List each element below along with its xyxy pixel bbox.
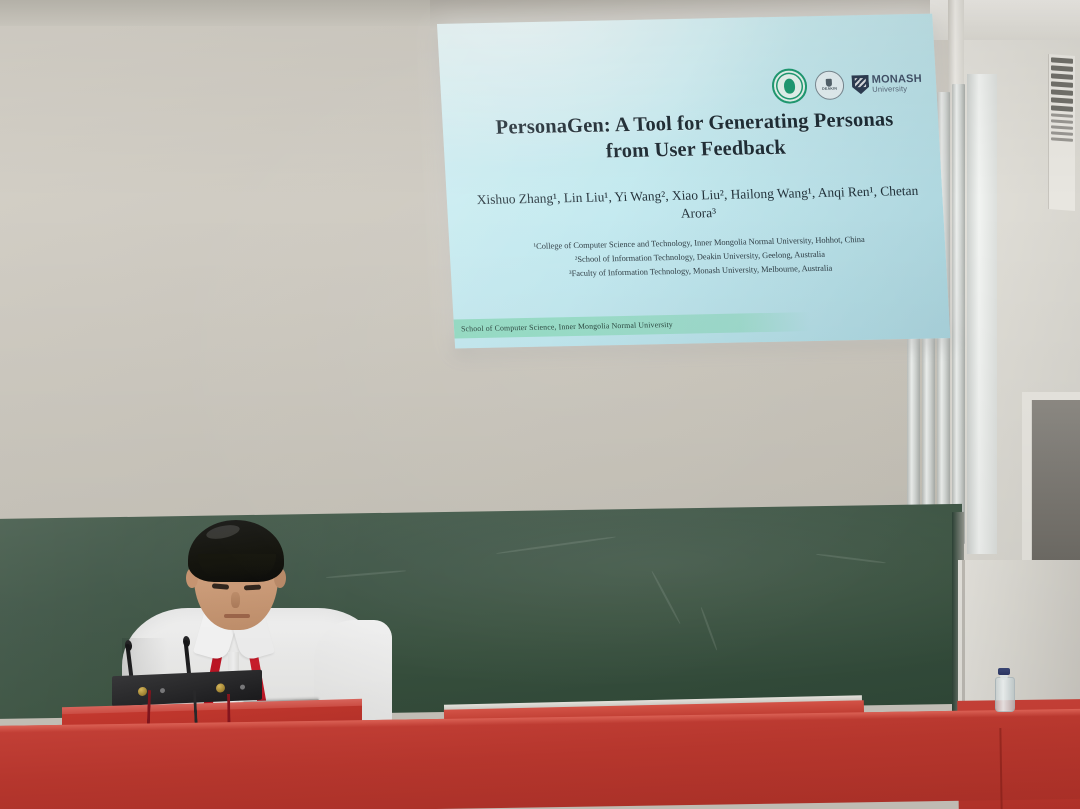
presenter-eye: [244, 585, 261, 591]
deakin-crest-icon: [826, 79, 832, 87]
wall-slat: [952, 84, 965, 544]
monash-logo-icon: MONASH University: [851, 74, 922, 94]
chalk-mark: [700, 607, 718, 651]
slide-authors: Xishuo Zhang¹, Lin Liu¹, Yi Wang², Xiao …: [468, 182, 927, 228]
chalk-mark: [496, 536, 615, 554]
presenter-nose: [231, 592, 240, 608]
water-bottle[interactable]: [995, 668, 1013, 710]
mic-knob[interactable]: [138, 687, 147, 696]
bottle-body: [995, 677, 1015, 712]
chalk-mark: [816, 553, 886, 564]
mic-indicator: [240, 684, 245, 689]
chalk-mark: [651, 571, 681, 625]
monash-logo-line2: University: [872, 85, 923, 94]
projection-screen: DEAKIN MONASH University PersonaGen: A T…: [437, 14, 950, 349]
slide-surface: DEAKIN MONASH University PersonaGen: A T…: [437, 14, 950, 349]
screen-vignette: [437, 14, 950, 349]
presentation-photo: DEAKIN MONASH University PersonaGen: A T…: [0, 0, 1080, 809]
side-ledge: [958, 560, 1080, 706]
bottle-cap: [998, 668, 1010, 675]
presenter-mouth: [224, 614, 250, 618]
monash-shield-icon: [851, 75, 869, 94]
slide-affiliations: ¹College of Computer Science and Technol…: [475, 232, 924, 283]
mic-indicator: [160, 688, 165, 693]
deakin-logo-icon: DEAKIN: [814, 70, 845, 100]
presentation-desk: [0, 709, 1080, 809]
slide-logos: DEAKIN MONASH University: [771, 66, 923, 104]
wall-slat-wide: [967, 74, 997, 554]
mic-knob[interactable]: [216, 683, 225, 692]
slide-footer-text: School of Computer Science, Inner Mongol…: [454, 320, 673, 334]
deakin-logo-label: DEAKIN: [822, 88, 837, 92]
university-seal-icon: [771, 68, 808, 104]
air-vent-icon: [1048, 54, 1075, 211]
side-ledge-edge: [962, 560, 965, 706]
slide-title: PersonaGen: A Tool for Generating Person…: [472, 106, 918, 168]
doorway: [1032, 400, 1080, 560]
slide-footer-band: School of Computer Science, Inner Mongol…: [454, 312, 812, 338]
